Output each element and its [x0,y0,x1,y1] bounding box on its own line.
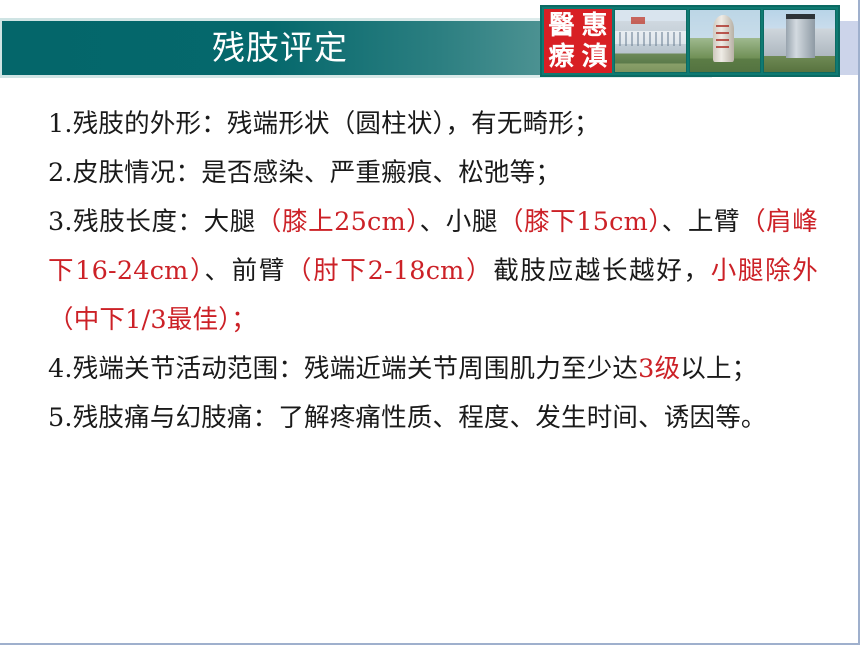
text-run: 3.残肢长度：大腿 [48,207,256,237]
presentation-slide: 残肢评定 醫 惠 療 滇 1.残肢的外形：残端形状（圆柱状），有无畸形； 2.皮… [0,0,860,645]
slide-body: 1.残肢的外形：残端形状（圆柱状），有无畸形； 2.皮肤情况：是否感染、严重瘢痕… [48,100,818,443]
list-item-item-3: 3.残肢长度：大腿（膝上25cm）、小腿（膝下15cm）、上臂（肩峰下16-24… [48,198,818,345]
list-item-item-4: 4.残端关节活动范围：残端近端关节周围肌力至少达3级以上； [48,345,818,394]
seal-char-3: 療 [548,44,574,70]
text-run: 3级 [638,354,680,384]
text-run: 、前臂 [204,256,286,286]
text-run: （膝上25cm） [256,207,420,237]
seal-char-4: 滇 [581,44,607,70]
organization-logo: 醫 惠 療 滇 [540,5,840,77]
text-run: 5.残肢痛与幻肢痛：了解疼痛性质、程度、发生时间、诱因等。 [48,403,767,433]
slide-header: 残肢评定 醫 惠 療 滇 [0,0,860,96]
text-run: 2.皮肤情况：是否感染、严重瘢痕、松弛等； [48,158,561,188]
text-run: 1.残肢的外形：残端形状（圆柱状），有无畸形； [48,109,600,139]
logo-seal-icon: 醫 惠 療 滇 [544,9,612,73]
text-run: 以上； [680,354,757,384]
seal-char-2: 惠 [581,13,607,39]
highrise-building-photo [763,9,836,73]
list-item-item-5: 5.残肢痛与幻肢痛：了解疼痛性质、程度、发生时间、诱因等。 [48,394,818,443]
text-run: 、小腿 [420,207,498,237]
text-run: 截肢应越长越好， [493,256,711,286]
text-run: （肘下2-18cm） [286,256,493,286]
hospital-building-photo [614,9,687,73]
stone-monument-photo [689,9,762,73]
slide-title: 残肢评定 [0,21,560,75]
text-run: 4.残端关节活动范围：残端近端关节周围肌力至少达 [48,354,638,384]
seal-char-1: 醫 [548,13,574,39]
list-item-item-1: 1.残肢的外形：残端形状（圆柱状），有无畸形； [48,100,818,149]
text-run: （膝下15cm） [498,207,662,237]
list-item-item-2: 2.皮肤情况：是否感染、严重瘢痕、松弛等； [48,149,818,198]
text-run: 、上臂 [662,207,740,237]
